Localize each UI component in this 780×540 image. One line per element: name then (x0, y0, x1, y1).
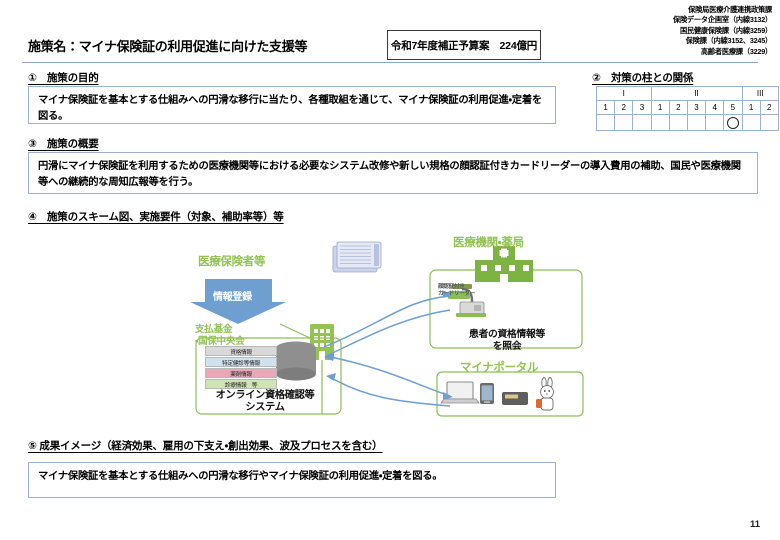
contact-line: 高齢者医療課（3229） (673, 47, 772, 57)
section-2-heading: ② 対策の柱との関係 (592, 70, 693, 85)
slide-page: 保険局医療介護連携政策課 保険データ企画室（内線3132） 国民健康保険課（内線… (0, 0, 780, 540)
department-contacts: 保険局医療介護連携政策課 保険データ企画室（内線3132） 国民健康保険課（内線… (673, 5, 772, 57)
contact-line: 保険データ企画室（内線3132） (673, 15, 772, 25)
pillar-mark-cell (742, 115, 760, 131)
pillar-mark-cell-selected (724, 115, 742, 131)
rabbit-mascot-icon (536, 378, 553, 411)
pillar-group-1: I (597, 87, 652, 101)
section-3-body: 円滑にマイナ保険証を利用するための医療機関等における必要なシステム改修や新しい規… (28, 152, 758, 194)
pillar-number: 3 (633, 101, 651, 115)
scheme-diagram: 医療保険者等 情報登録 支払基金・国保中央会 資格情報 特定健診等情報 薬剤情報… (150, 226, 620, 431)
pillar-mark-cell (687, 115, 705, 131)
contact-line: 保険課（内線3152、3245） (673, 36, 772, 46)
section-1-heading: ① 施策の目的 (28, 70, 99, 85)
chip-checkup-info: 特定健診等情報 (205, 357, 277, 367)
database-icon (276, 342, 316, 381)
chip-treatment-info: 診療情報 等 (205, 379, 277, 389)
pillar-group-row: I II III (597, 87, 779, 101)
pillar-number: 2 (760, 101, 778, 115)
pillar-number: 2 (615, 101, 633, 115)
pillar-group-3: III (742, 87, 778, 101)
pillar-mark-cell (760, 115, 778, 131)
section-5-body: マイナ保険証を基本とする仕組みへの円滑な移行やマイナ保険証の利用促進・定着を図る… (28, 462, 556, 498)
insurer-label: 医療保険者等 (198, 253, 265, 269)
pillar-mark-cell (633, 115, 651, 131)
online-system-label: オンライン資格確認等システム (205, 390, 325, 414)
pillar-mark-cell (706, 115, 724, 131)
title-divider (22, 62, 758, 63)
pillar-mark-cell (615, 115, 633, 131)
pillar-mark-cell (669, 115, 687, 131)
card-device-icon (502, 392, 528, 405)
reference-label: 患者の資格情報等を照会 (445, 329, 569, 353)
section-1-body: マイナ保険証を基本とする仕組みへの円滑な移行に当たり、各種取組を通じて、マイナ保… (28, 86, 556, 124)
pillar-relation-table: I II III 1 2 3 1 2 3 4 5 1 2 (596, 86, 779, 131)
page-title: 施策名：マイナ保険証の利用促進に向けた支援等 (28, 36, 307, 55)
card-reader-label: 顔認証付きカードリーダー (438, 284, 475, 298)
page-number: 11 (750, 519, 760, 530)
pillar-number: 4 (706, 101, 724, 115)
budget-box: 令和7年度補正予算案 224億円 (387, 30, 541, 60)
server-icon (333, 242, 381, 272)
laptop-icon (441, 382, 479, 403)
pillar-number: 2 (669, 101, 687, 115)
pillar-number: 3 (687, 101, 705, 115)
fund-label-connector (280, 324, 310, 338)
pillar-mark-cell (651, 115, 669, 131)
section-5-heading: ⑤ 成果イメージ（経済効果、雇用の下支え・創出効果、波及プロセスを含む） (28, 438, 382, 453)
hospital-label: 医療機関・薬局 (453, 234, 524, 250)
pillar-number-row: 1 2 3 1 2 3 4 5 1 2 (597, 101, 779, 115)
pillar-number: 5 (724, 101, 742, 115)
circle-mark-icon (727, 117, 739, 129)
hospital-icon (475, 246, 533, 282)
contact-line: 保険局医療介護連携政策課 (673, 5, 772, 15)
registration-label: 情報登録 (213, 288, 252, 303)
pillar-number: 1 (597, 101, 615, 115)
fund-label: 支払基金・国保中央会 (195, 324, 244, 348)
chip-medication-info: 薬剤情報 (205, 368, 277, 378)
portal-label: マイナポータル (460, 359, 538, 375)
pillar-number: 1 (651, 101, 669, 115)
pillar-mark-cell (597, 115, 615, 131)
pillar-number: 1 (742, 101, 760, 115)
contact-line: 国民健康保険課（内線3259） (673, 26, 772, 36)
chip-qualification-info: 資格情報 (205, 346, 277, 356)
pillar-mark-row (597, 115, 779, 131)
pillar-group-2: II (651, 87, 742, 101)
section-4-heading: ④ 施策のスキーム図、実施要件（対象、補助率等）等 (28, 209, 284, 224)
smartphone-icon (480, 383, 494, 404)
data-flow-arrows (324, 296, 450, 406)
section-3-heading: ③ 施策の概要 (28, 136, 99, 151)
